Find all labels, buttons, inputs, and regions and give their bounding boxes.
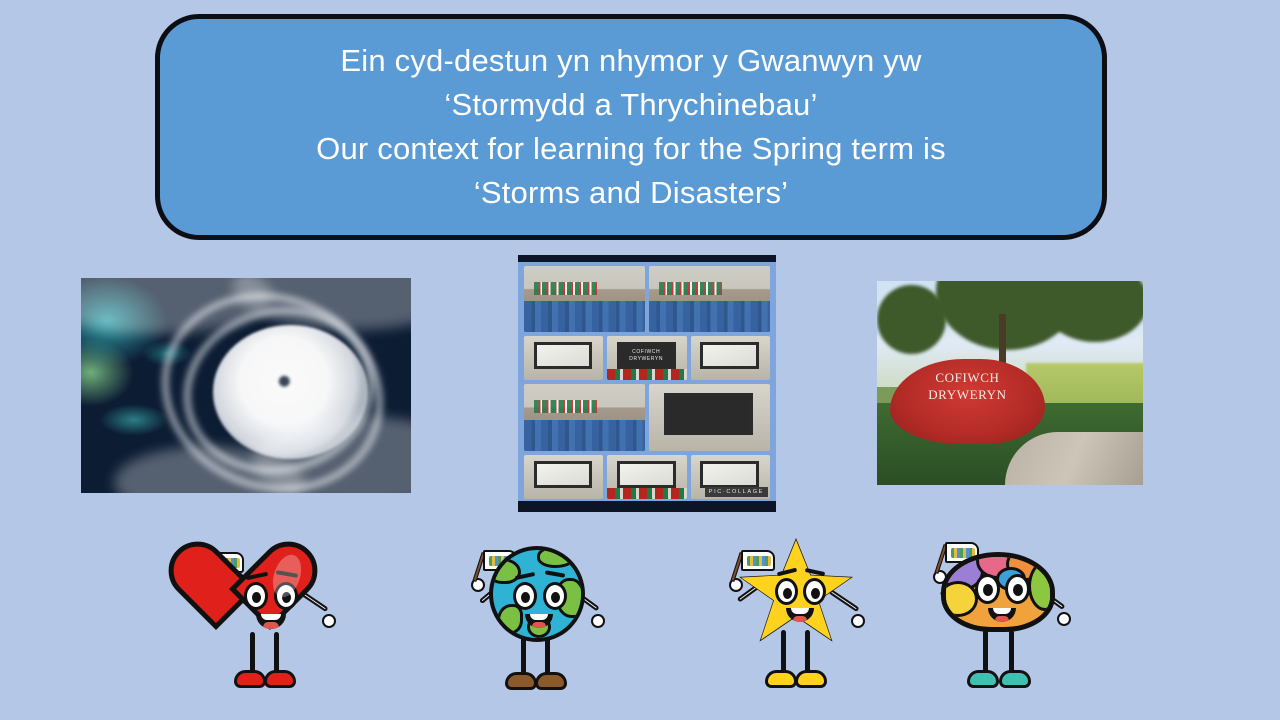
shoe	[795, 670, 827, 688]
wall-text-line-2: DRYWERYN	[901, 386, 1034, 403]
flag-cloth	[741, 550, 775, 571]
pic-collage-watermark: PIC·COLLAGE	[705, 487, 768, 497]
shoe	[234, 670, 266, 688]
collage-row: PIC·COLLAGE	[524, 455, 770, 499]
slide-canvas: Ein cyd-destun yn nhymor y Gwanwyn yw ‘S…	[0, 0, 1280, 720]
arm-right	[829, 589, 860, 612]
teeth	[791, 608, 809, 614]
continent	[537, 546, 577, 568]
pupil-left	[783, 588, 792, 599]
shoe	[765, 670, 797, 688]
brain-mascot	[925, 538, 1075, 698]
collage-row	[524, 384, 770, 451]
hand-right	[1057, 612, 1071, 626]
tongue	[532, 622, 547, 628]
pupil-right	[551, 592, 560, 603]
title-line-3: Our context for learning for the Spring …	[316, 127, 946, 171]
tree-canopy	[877, 285, 946, 354]
hand-right	[591, 614, 605, 628]
pupil-right	[811, 588, 820, 599]
brain-lobe	[1028, 561, 1055, 611]
pupil-left	[252, 592, 261, 603]
collage-photo	[524, 455, 603, 499]
collage-photo: PIC·COLLAGE	[691, 455, 770, 499]
heart-mascot	[190, 540, 340, 700]
teeth	[530, 614, 548, 620]
pupil-left	[983, 584, 993, 596]
collage-row: COFIWCH DRYWERYN	[524, 336, 770, 380]
shoe	[264, 670, 296, 688]
collage-photo	[524, 384, 645, 451]
collage-photo: COFIWCH DRYWERYN	[607, 336, 686, 380]
cofiwch-dryweryn-wall-photo: COFIWCH DRYWERYN	[877, 281, 1143, 485]
wall-text: COFIWCH DRYWERYN	[901, 369, 1034, 403]
teeth	[261, 614, 280, 620]
shoe	[967, 670, 999, 688]
wall-text-line-1: COFIWCH	[901, 369, 1034, 386]
collage-photo	[649, 384, 770, 451]
pupil-left	[521, 592, 530, 603]
shoe	[535, 672, 567, 690]
shoe	[999, 670, 1031, 688]
globe-mascot	[463, 542, 613, 702]
collage-photo	[607, 455, 686, 499]
collage-grid: COFIWCH DRYWERYN PIC·COLLAGE	[524, 262, 770, 501]
title-line-1: Ein cyd-destun yn nhymor y Gwanwyn yw	[340, 39, 921, 83]
brain-lobe	[941, 581, 978, 617]
hurricane-satellite-photo	[81, 278, 411, 493]
tongue	[995, 616, 1010, 622]
hand-right	[851, 614, 865, 628]
title-line-2: ‘Stormydd a Thrychinebau’	[444, 83, 817, 127]
collage-photo	[524, 336, 603, 380]
flag-logo-icon	[747, 556, 771, 566]
hand-right	[322, 614, 336, 628]
title-line-4: ‘Storms and Disasters’	[474, 171, 789, 215]
title-banner: Ein cyd-destun yn nhymor y Gwanwyn yw ‘S…	[155, 14, 1107, 240]
board-caption: COFIWCH DRYWERYN	[622, 349, 671, 363]
collage-photo	[524, 266, 645, 332]
shoe	[505, 672, 537, 690]
hurricane-eye	[213, 325, 368, 458]
tongue	[263, 622, 279, 629]
collage-photo	[691, 336, 770, 380]
star-mascot	[723, 538, 873, 698]
school-assembly-collage: COFIWCH DRYWERYN PIC·COLLAGE	[518, 255, 776, 512]
collage-row	[524, 266, 770, 332]
pupil-right	[1013, 584, 1023, 596]
collage-photo	[649, 266, 770, 332]
teeth	[993, 608, 1011, 614]
tongue	[793, 616, 808, 622]
continent	[489, 558, 521, 584]
